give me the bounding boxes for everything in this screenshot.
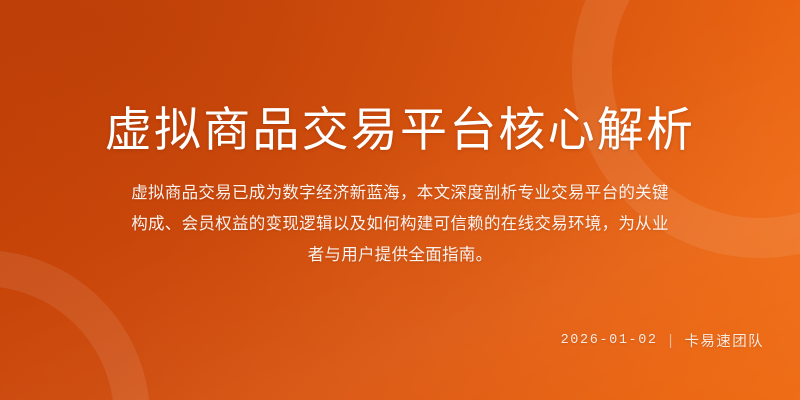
page-title: 虚拟商品交易平台核心解析 bbox=[0, 104, 800, 157]
poster-meta: 2026-01-02 | 卡易速团队 bbox=[561, 330, 764, 351]
subtitle-line-1: 虚拟商品交易已成为数字经济新蓝海，本文深度剖析专业交易平台的关键 bbox=[66, 178, 734, 209]
subtitle-line-2: 构成、会员权益的变现逻辑以及如何构建可信赖的在线交易环境，为从业 bbox=[66, 209, 734, 240]
subtitle-paragraph: 虚拟商品交易已成为数字经济新蓝海，本文深度剖析专业交易平台的关键 构成、会员权益… bbox=[66, 178, 734, 271]
subtitle-line-3: 者与用户提供全面指南。 bbox=[66, 240, 734, 271]
poster-canvas: 虚拟商品交易平台核心解析 虚拟商品交易已成为数字经济新蓝海，本文深度剖析专业交易… bbox=[0, 0, 800, 400]
author-team: 卡易速团队 bbox=[685, 330, 765, 351]
poster-content: 虚拟商品交易平台核心解析 虚拟商品交易已成为数字经济新蓝海，本文深度剖析专业交易… bbox=[0, 0, 800, 400]
meta-separator: | bbox=[669, 333, 674, 349]
publish-date: 2026-01-02 bbox=[561, 333, 658, 348]
